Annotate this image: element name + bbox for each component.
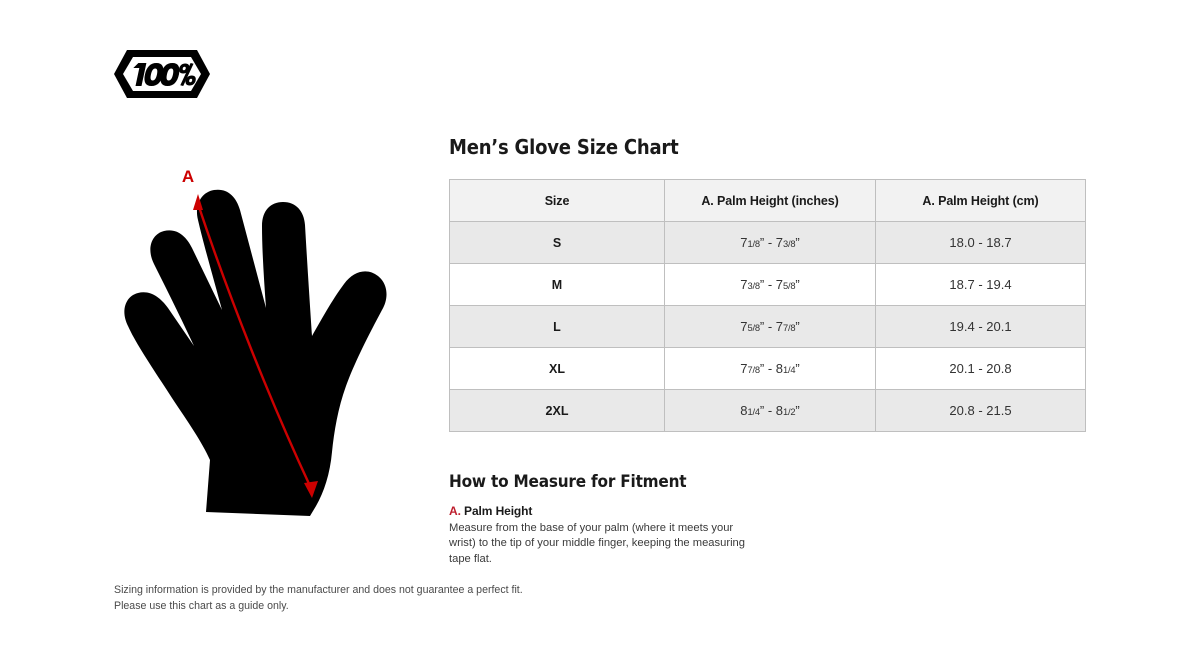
cell-palm-inches: 81/4” - 81/2” xyxy=(665,390,876,432)
hand-silhouette-icon: A xyxy=(110,160,440,520)
column-header-palm-cm: A. Palm Height (cm) xyxy=(876,180,1086,222)
table-row: L 75/8” - 77/8” 19.4 - 20.1 xyxy=(450,306,1086,348)
cell-size: XL xyxy=(450,348,665,390)
cell-palm-cm: 19.4 - 20.1 xyxy=(876,306,1086,348)
measure-item-name: Palm Height xyxy=(464,504,532,518)
cell-palm-cm: 20.8 - 21.5 xyxy=(876,390,1086,432)
brand-logo xyxy=(112,46,212,102)
cell-palm-cm: 20.1 - 20.8 xyxy=(876,348,1086,390)
cell-palm-inches: 77/8” - 81/4” xyxy=(665,348,876,390)
table-row: M 73/8” - 75/8” 18.7 - 19.4 xyxy=(450,264,1086,306)
table-row: XL 77/8” - 81/4” 20.1 - 20.8 xyxy=(450,348,1086,390)
table-header-row: Size A. Palm Height (inches) A. Palm Hei… xyxy=(450,180,1086,222)
disclaimer-line-2: Please use this chart as a guide only. xyxy=(114,599,634,615)
measure-item-title: A. Palm Height xyxy=(449,504,1085,518)
column-header-size: Size xyxy=(450,180,665,222)
size-chart-table: Size A. Palm Height (inches) A. Palm Hei… xyxy=(449,179,1086,432)
disclaimer: Sizing information is provided by the ma… xyxy=(114,583,634,615)
size-chart-panel: Men’s Glove Size Chart Size A. Palm Heig… xyxy=(449,136,1085,567)
column-header-palm-inches: A. Palm Height (inches) xyxy=(665,180,876,222)
figure-label-a: A xyxy=(182,167,194,186)
cell-palm-inches: 73/8” - 75/8” xyxy=(665,264,876,306)
page-title: Men’s Glove Size Chart xyxy=(449,136,1085,158)
cell-palm-cm: 18.0 - 18.7 xyxy=(876,222,1086,264)
measure-item-mark: A. xyxy=(449,504,461,518)
measure-item-description: Measure from the base of your palm (wher… xyxy=(449,521,751,567)
cell-size: S xyxy=(450,222,665,264)
cell-palm-cm: 18.7 - 19.4 xyxy=(876,264,1086,306)
cell-palm-inches: 71/8” - 73/8” xyxy=(665,222,876,264)
table-row: 2XL 81/4” - 81/2” 20.8 - 21.5 xyxy=(450,390,1086,432)
100-percent-logo-icon xyxy=(112,46,212,102)
disclaimer-line-1: Sizing information is provided by the ma… xyxy=(114,583,634,599)
table-row: S 71/8” - 73/8” 18.0 - 18.7 xyxy=(450,222,1086,264)
cell-palm-inches: 75/8” - 77/8” xyxy=(665,306,876,348)
how-to-measure-heading: How to Measure for Fitment xyxy=(449,472,1085,492)
cell-size: 2XL xyxy=(450,390,665,432)
cell-size: L xyxy=(450,306,665,348)
table-body: S 71/8” - 73/8” 18.0 - 18.7 M 73/8” - 75… xyxy=(450,222,1086,432)
hand-diagram: A xyxy=(110,160,440,520)
cell-size: M xyxy=(450,264,665,306)
